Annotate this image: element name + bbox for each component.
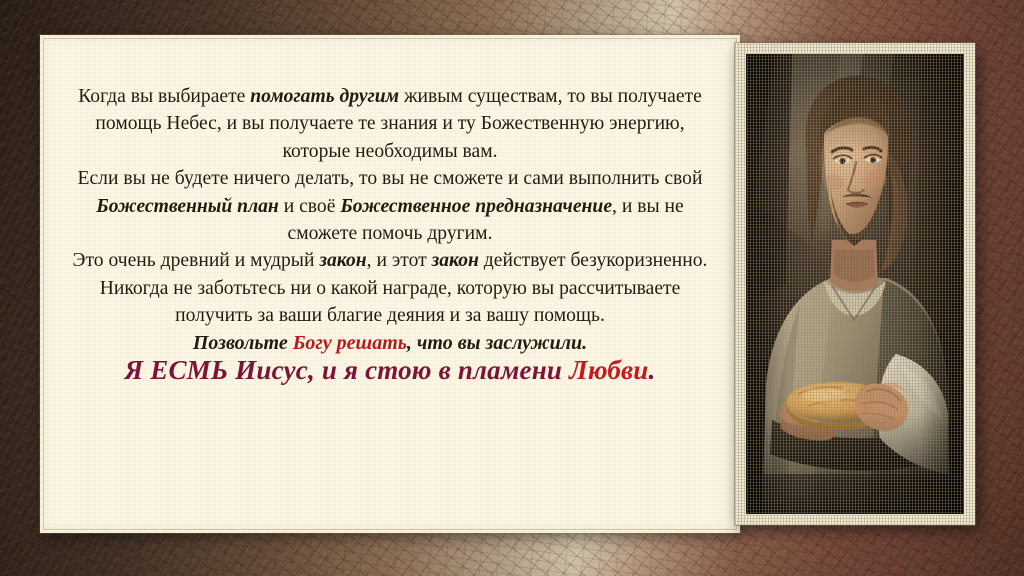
quote-p5-part-a: Позвольте xyxy=(193,332,293,354)
signature-part-3: Любви xyxy=(569,355,648,385)
quote-p3-part-a: Это очень древний и мудрый xyxy=(73,250,320,271)
picture-frame xyxy=(735,43,975,525)
quote-paragraph-5: Позвольте Богу решать, что вы заслужили. xyxy=(70,330,710,357)
quote-p5-part-b: , что вы заслужили. xyxy=(407,332,587,354)
quote-paragraph-2: Если вы не будете ничего делать, то вы н… xyxy=(70,165,710,247)
signature-line: Я ЕСМЬ Иисус, и я стою в пламени Любви. xyxy=(70,357,710,384)
quote-p3-part-c: действует безукоризненно. xyxy=(479,250,708,271)
signature-part-1: Я ЕСМЬ Иисус xyxy=(125,355,308,385)
quote-p1-part-a: Когда вы выбираете xyxy=(78,86,250,107)
jesus-portrait-illustration xyxy=(746,54,964,514)
signature-part-4: . xyxy=(649,355,656,385)
quote-p2-emphasis-2: Божественное предназначение xyxy=(340,196,612,217)
quote-p2-emphasis-1: Божественный план xyxy=(96,196,279,217)
quote-p1-emphasis: помогать другим xyxy=(250,86,399,107)
quote-text-block: Когда вы выбираете помогать другим живым… xyxy=(40,35,740,384)
quote-panel: Когда вы выбираете помогать другим живым… xyxy=(40,35,740,533)
quote-paragraph-1: Когда вы выбираете помогать другим живым… xyxy=(70,83,710,165)
quote-p2-part-a: Если вы не будете ничего делать, то вы н… xyxy=(78,168,703,189)
jesus-portrait-image xyxy=(746,54,964,514)
quote-paragraph-3: Это очень древний и мудрый закон, и этот… xyxy=(70,247,710,274)
quote-p3-part-b: , и этот xyxy=(367,250,432,271)
signature-part-2: , и я стою в пламени xyxy=(308,355,569,385)
quote-p3-emphasis-2: закон xyxy=(432,250,479,271)
quote-paragraph-4: Никогда не заботьтесь ни о какой награде… xyxy=(70,275,710,330)
quote-p5-highlight: Богу решать xyxy=(293,332,407,354)
quote-p3-emphasis-1: закон xyxy=(319,250,366,271)
quote-p2-part-b: и своё xyxy=(279,196,341,217)
slide-canvas: Когда вы выбираете помогать другим живым… xyxy=(0,0,1024,576)
